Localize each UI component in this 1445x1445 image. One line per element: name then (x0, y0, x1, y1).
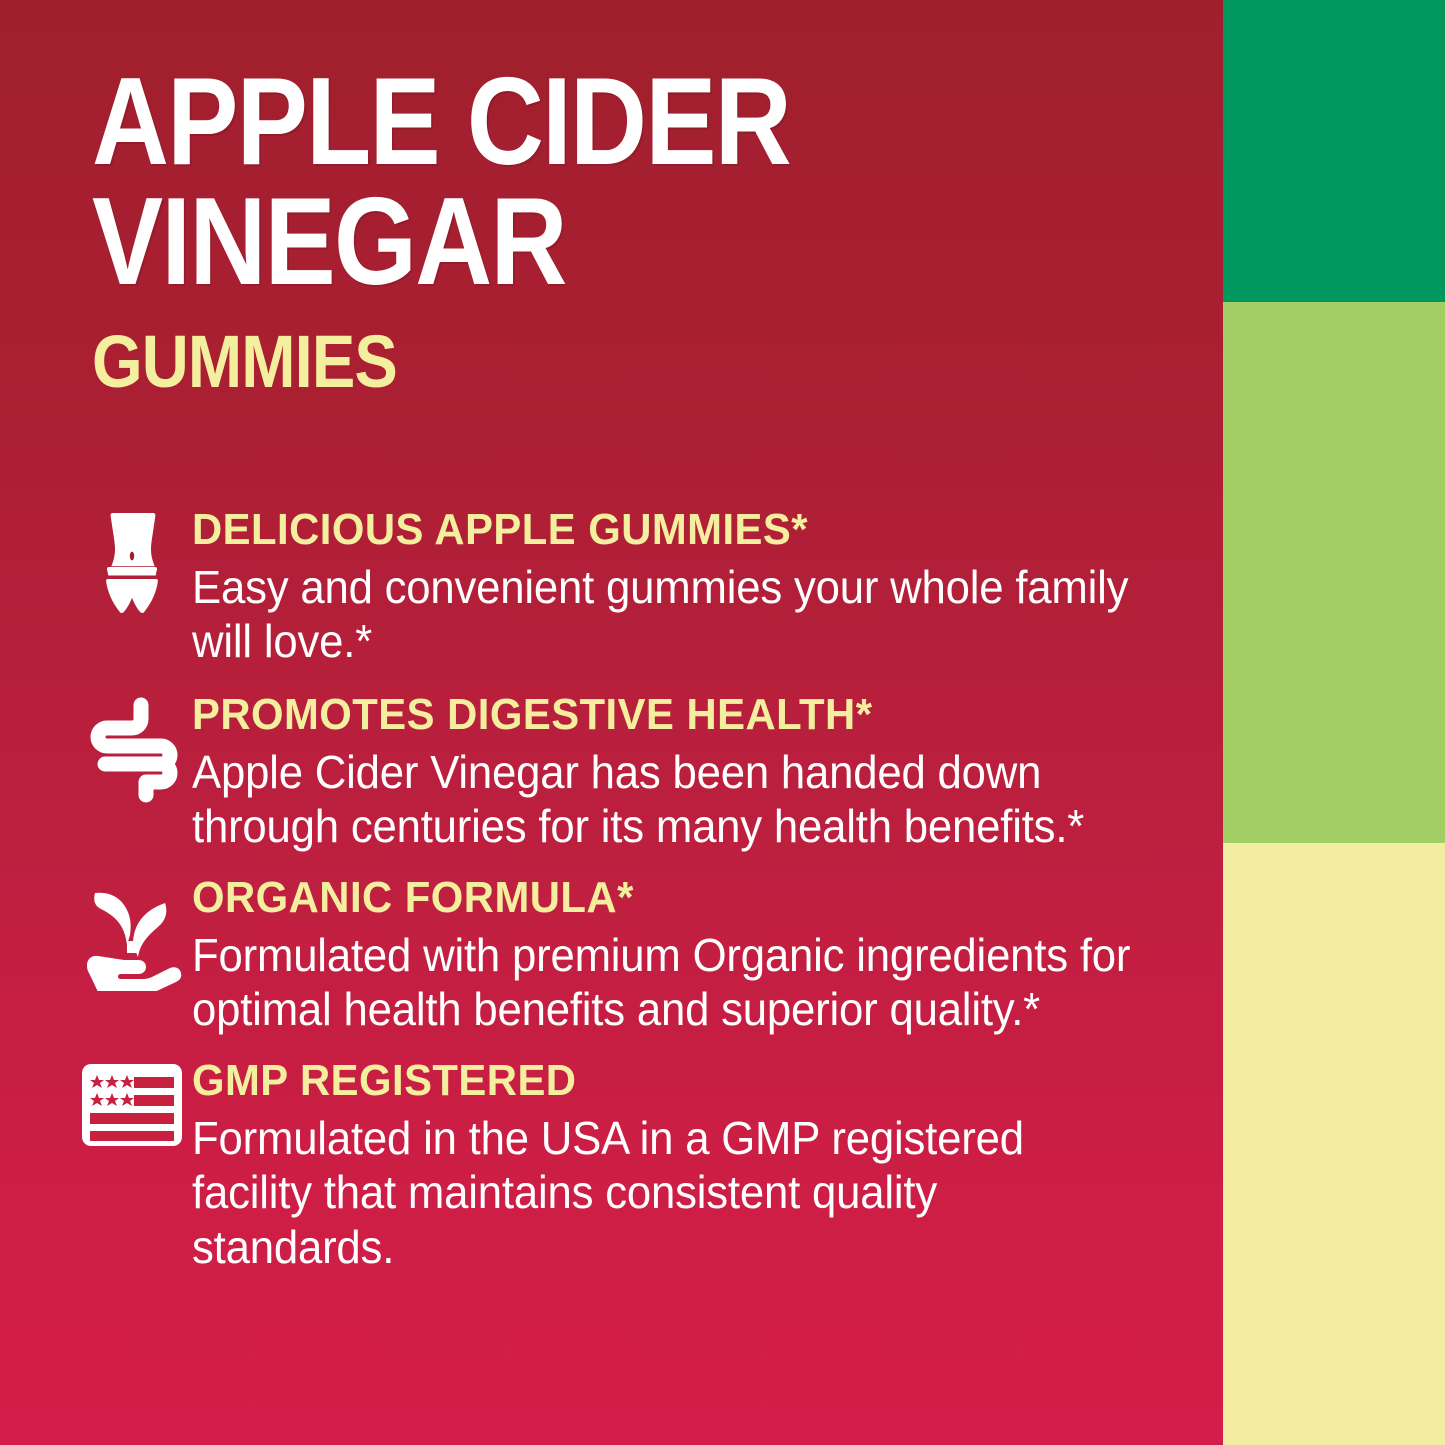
feature-list: DELICIOUS APPLE GUMMIES* Easy and conven… (72, 505, 1187, 1274)
feature-title: PROMOTES DIGESTIVE HEALTH* (192, 692, 1137, 739)
feature-title: DELICIOUS APPLE GUMMIES* (192, 507, 1137, 554)
feature-title: GMP REGISTERED (192, 1058, 1137, 1105)
hand-holding-plant-icon (72, 873, 192, 991)
feature-text: GMP REGISTERED Formulated in the USA in … (192, 1056, 1187, 1273)
feature-text: DELICIOUS APPLE GUMMIES* Easy and conven… (192, 505, 1187, 668)
color-stripe-sidebar (1223, 0, 1445, 1445)
waist-torso-icon (72, 505, 192, 623)
sidebar-green-block (1223, 0, 1445, 302)
usa-flag-icon (72, 1056, 192, 1174)
feature-body: Formulated with premium Organic ingredie… (192, 928, 1137, 1037)
feature-item: GMP REGISTERED Formulated in the USA in … (72, 1056, 1187, 1273)
feature-body: Easy and convenient gummies your whole f… (192, 560, 1137, 669)
feature-body: Apple Cider Vinegar has been handed down… (192, 745, 1137, 854)
sidebar-cream-block (1223, 843, 1445, 1445)
feature-item: DELICIOUS APPLE GUMMIES* Easy and conven… (72, 505, 1187, 668)
feature-item: PROMOTES DIGESTIVE HEALTH* Apple Cider V… (72, 690, 1187, 853)
intestine-icon (72, 690, 192, 808)
page-subtitle: GUMMIES (92, 325, 1016, 399)
sidebar-lime-block (1223, 302, 1445, 843)
page-title: APPLE CIDER VINEGAR GUMMIES (92, 62, 1142, 399)
product-infographic: APPLE CIDER VINEGAR GUMMIES DELIC (0, 0, 1445, 1445)
feature-title: ORGANIC FORMULA* (192, 875, 1137, 922)
feature-text: ORGANIC FORMULA* Formulated with premium… (192, 873, 1187, 1036)
feature-body: Formulated in the USA in a GMP registere… (192, 1111, 1137, 1274)
title-line-1: APPLE CIDER (92, 62, 995, 182)
feature-text: PROMOTES DIGESTIVE HEALTH* Apple Cider V… (192, 690, 1187, 853)
content-area: APPLE CIDER VINEGAR GUMMIES DELIC (0, 0, 1223, 1445)
feature-item: ORGANIC FORMULA* Formulated with premium… (72, 873, 1187, 1036)
title-line-2: VINEGAR (92, 182, 995, 302)
